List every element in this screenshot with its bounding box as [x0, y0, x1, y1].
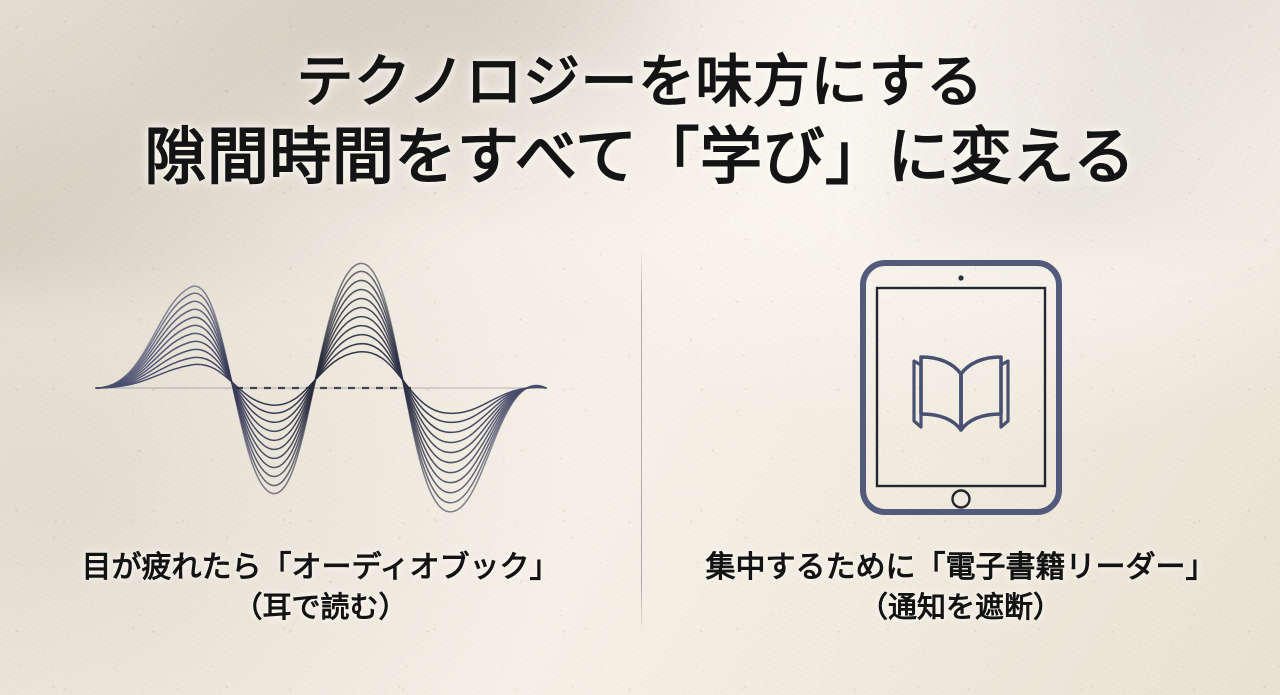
sound-wave-icon — [0, 250, 641, 525]
caption-audiobook-line-1: 目が疲れたら「オーディオブック」 — [0, 548, 641, 587]
caption-audiobook: 目が疲れたら「オーディオブック」 （耳で読む） — [0, 548, 641, 628]
caption-ereader-line-2: （通知を遮断） — [641, 590, 1280, 628]
caption-audiobook-line-2: （耳で読む） — [0, 590, 641, 628]
tablet-ereader-icon — [641, 250, 1280, 525]
panel-audiobook — [0, 250, 641, 525]
slide-canvas: テクノロジーを味方にする 隙間時間をすべて「学び」に変える — [0, 0, 1280, 695]
caption-ereader-line-1: 集中するために「電子書籍リーダー」 — [641, 548, 1280, 587]
title-line-1: テクノロジーを味方にする — [0, 48, 1280, 118]
page-title: テクノロジーを味方にする 隙間時間をすべて「学び」に変える — [0, 48, 1280, 195]
title-line-2: 隙間時間をすべて「学び」に変える — [0, 120, 1280, 196]
panel-ereader — [641, 250, 1280, 525]
caption-ereader: 集中するために「電子書籍リーダー」 （通知を遮断） — [641, 548, 1280, 628]
